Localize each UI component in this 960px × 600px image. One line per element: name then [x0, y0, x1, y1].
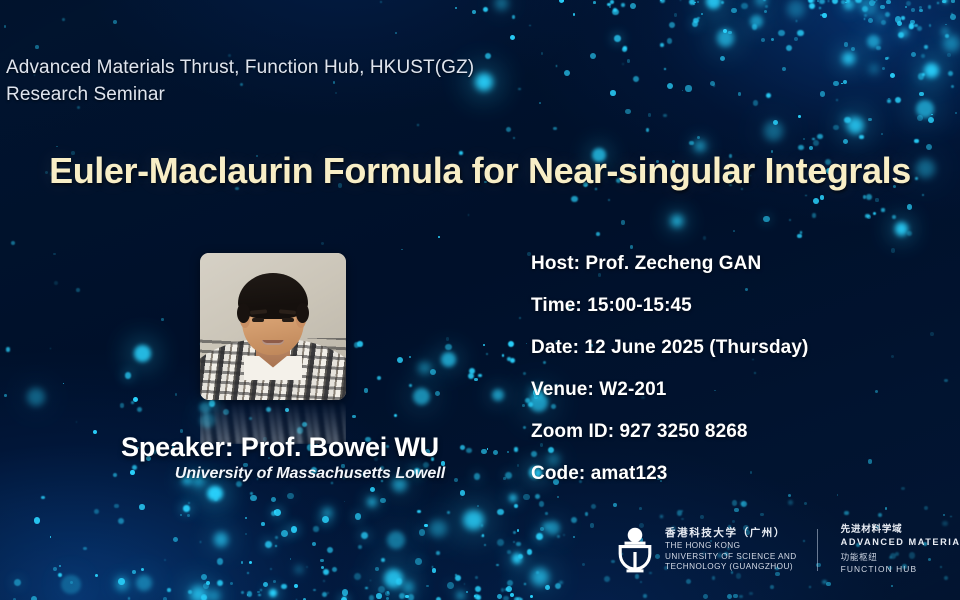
- page-title: Euler-Maclaurin Formula for Near-singula…: [10, 150, 950, 192]
- detail-row: Zoom ID: 927 3250 8268: [531, 421, 808, 443]
- poster-header: Advanced Materials Thrust, Function Hub,…: [6, 54, 474, 108]
- thrust-name-cn: 先进材料学域: [841, 524, 960, 536]
- speaker-photo: [200, 253, 346, 400]
- detail-row: Venue: W2-201: [531, 379, 808, 401]
- hkust-logo-icon: [616, 527, 654, 573]
- thrust-logo-text: 先进材料学域 ADVANCED MATERIALS THRUST 功能枢纽 FU…: [841, 524, 960, 575]
- logo-divider: [817, 529, 818, 571]
- hkust-name-en-3: TECHNOLOGY (GUANGZHOU): [665, 562, 797, 573]
- hkust-name-en-2: UNIVERSITY OF SCIENCE AND: [665, 552, 797, 563]
- speaker-affiliation: University of Massachusetts Lowell: [120, 465, 500, 483]
- seminar-poster: Advanced Materials Thrust, Function Hub,…: [0, 0, 960, 600]
- hkust-logo-text: 香港科技大学（广州） THE HONG KONG UNIVERSITY OF S…: [665, 527, 797, 573]
- detail-row: Code: amat123: [531, 463, 808, 485]
- hub-name-en: FUNCTION HUB: [841, 564, 960, 575]
- seminar-details: Host: Prof. Zecheng GANTime: 15:00-15:45…: [531, 253, 808, 505]
- detail-row: Time: 15:00-15:45: [531, 295, 808, 317]
- hkust-name-cn: 香港科技大学（广州）: [665, 527, 797, 540]
- hub-name-cn: 功能枢纽: [841, 552, 960, 563]
- detail-row: Date: 12 June 2025 (Thursday): [531, 337, 808, 359]
- thrust-name-en: ADVANCED MATERIALS THRUST: [841, 537, 960, 549]
- footer-logos: 香港科技大学（广州） THE HONG KONG UNIVERSITY OF S…: [616, 524, 960, 575]
- detail-row: Host: Prof. Zecheng GAN: [531, 253, 808, 275]
- hkust-name-en-1: THE HONG KONG: [665, 541, 797, 552]
- header-line-2: Research Seminar: [6, 81, 474, 108]
- speaker-name: Speaker: Prof. Bowei WU: [90, 432, 470, 463]
- header-line-1: Advanced Materials Thrust, Function Hub,…: [6, 54, 474, 81]
